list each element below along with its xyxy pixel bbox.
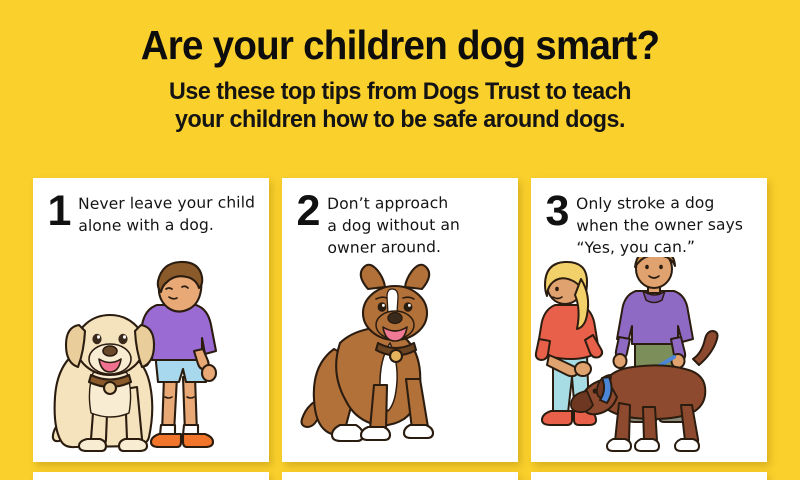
tip-text-2: Don’t approach a dog without an owner ar… — [323, 190, 460, 259]
poster-subtitle: Use these top tips from Dogs Trust to te… — [20, 78, 780, 134]
infographic-poster: Are your children dog smart? Use these t… — [0, 0, 800, 480]
tip-2-line-1: Don’t approach — [327, 192, 460, 215]
tip-card-2-header: 2 Don’t approach a dog without an owner … — [282, 178, 518, 259]
tip-1-line-2: alone with a dog. — [78, 213, 255, 237]
tip-text-1: Never leave your child alone with a dog. — [74, 189, 255, 237]
tip-card-5-partial[interactable] — [282, 472, 518, 480]
subtitle-line-2: your children how to be safe around dogs… — [20, 106, 780, 134]
tip-number-3: 3 — [542, 191, 572, 231]
illustration-boy-with-labrador — [33, 257, 269, 462]
tips-grid: 1 Never leave your child alone with a do… — [33, 178, 768, 462]
tip-card-3-header: 3 Only stroke a dog when the owner says … — [531, 178, 767, 259]
page-title: Are your children dog smart? — [24, 22, 776, 68]
tip-number-2: 2 — [293, 191, 323, 231]
tip-card-2[interactable]: 2 Don’t approach a dog without an owner … — [282, 178, 518, 462]
tip-2-line-3: owner around. — [327, 236, 460, 259]
tip-card-6-partial[interactable] — [531, 472, 767, 480]
tip-text-3: Only stroke a dog when the owner says “Y… — [572, 190, 743, 259]
tip-3-line-1: Only stroke a dog — [576, 192, 743, 215]
poster-header: Are your children dog smart? Use these t… — [0, 0, 800, 134]
tip-card-1-header: 1 Never leave your child alone with a do… — [33, 178, 269, 237]
illustration-brown-dog-sitting — [282, 257, 518, 462]
tip-number-1: 1 — [44, 191, 74, 231]
illustration-girl-stroking-dog-with-owner — [531, 257, 767, 462]
tip-card-1[interactable]: 1 Never leave your child alone with a do… — [33, 178, 269, 462]
tip-3-line-3: “Yes, you can.” — [576, 236, 743, 259]
tip-card-4-partial[interactable] — [33, 472, 269, 480]
tip-2-line-2: a dog without an — [327, 214, 460, 237]
tip-card-3[interactable]: 3 Only stroke a dog when the owner says … — [531, 178, 767, 462]
tip-1-line-1: Never leave your child — [78, 191, 255, 215]
subtitle-line-1: Use these top tips from Dogs Trust to te… — [20, 78, 780, 106]
tip-3-line-2: when the owner says — [576, 214, 743, 237]
tips-grid-row-2-clipped — [33, 472, 768, 480]
